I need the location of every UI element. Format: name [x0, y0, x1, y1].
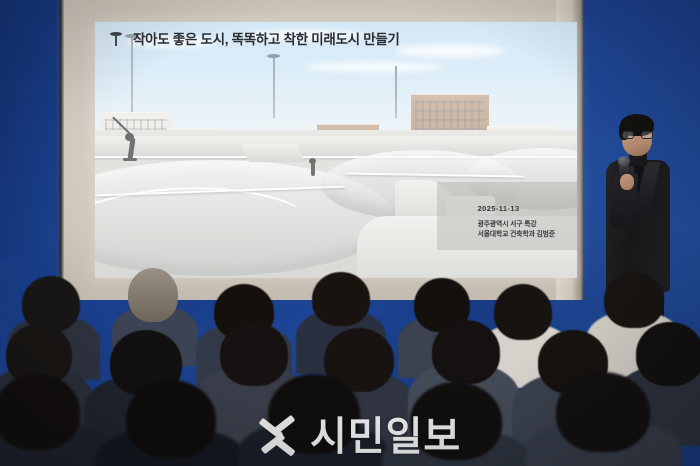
- audience-head: [126, 380, 216, 458]
- photograph: 작아도 좋은 도시, 똑똑하고 착한 미래도시 만들기 2025-11-13 광…: [0, 0, 700, 466]
- quarter-pipe: [241, 144, 306, 162]
- audience-head: [432, 320, 500, 384]
- audience-head: [22, 276, 80, 332]
- audience-head: [636, 322, 700, 386]
- audience-head: [556, 372, 650, 452]
- audience-head: [220, 322, 288, 386]
- audience-head: [604, 272, 664, 328]
- speaker-hand: [620, 174, 634, 190]
- audience-head: [312, 272, 370, 326]
- projected-slide: 작아도 좋은 도시, 똑똑하고 착한 미래도시 만들기 2025-11-13 광…: [95, 22, 577, 278]
- skater-figure: [311, 162, 315, 176]
- eyeglasses-icon: [622, 131, 653, 139]
- chevron-logo-icon: [256, 416, 298, 458]
- audience-head: [128, 268, 178, 322]
- skateboard: [123, 158, 137, 161]
- slide-date: 2025-11-13: [478, 204, 555, 213]
- microphone-head: [618, 156, 630, 166]
- slide-event-line: 광주광역시 서구 특강: [478, 220, 555, 230]
- streetlamp-icon: [109, 30, 123, 46]
- slide-title-text: 작아도 좋은 도시, 똑똑하고 착한 미래도시 만들기: [133, 28, 400, 48]
- watermark: 시민일보: [256, 416, 461, 458]
- audience-head: [0, 374, 80, 450]
- slide-title-bar: 작아도 좋은 도시, 똑똑하고 착한 미래도시 만들기: [95, 22, 577, 54]
- watermark-text: 시민일보: [310, 417, 461, 457]
- slide-credit-block: 2025-11-13 광주광역시 서구 특강 서울대학교 건축학과 김범준: [478, 204, 555, 240]
- audience-head: [494, 284, 552, 340]
- skater-head: [309, 158, 316, 164]
- lamp-head: [267, 54, 280, 58]
- slide-presenter-line: 서울대학교 건축학과 김범준: [478, 230, 555, 240]
- cloud: [305, 62, 445, 72]
